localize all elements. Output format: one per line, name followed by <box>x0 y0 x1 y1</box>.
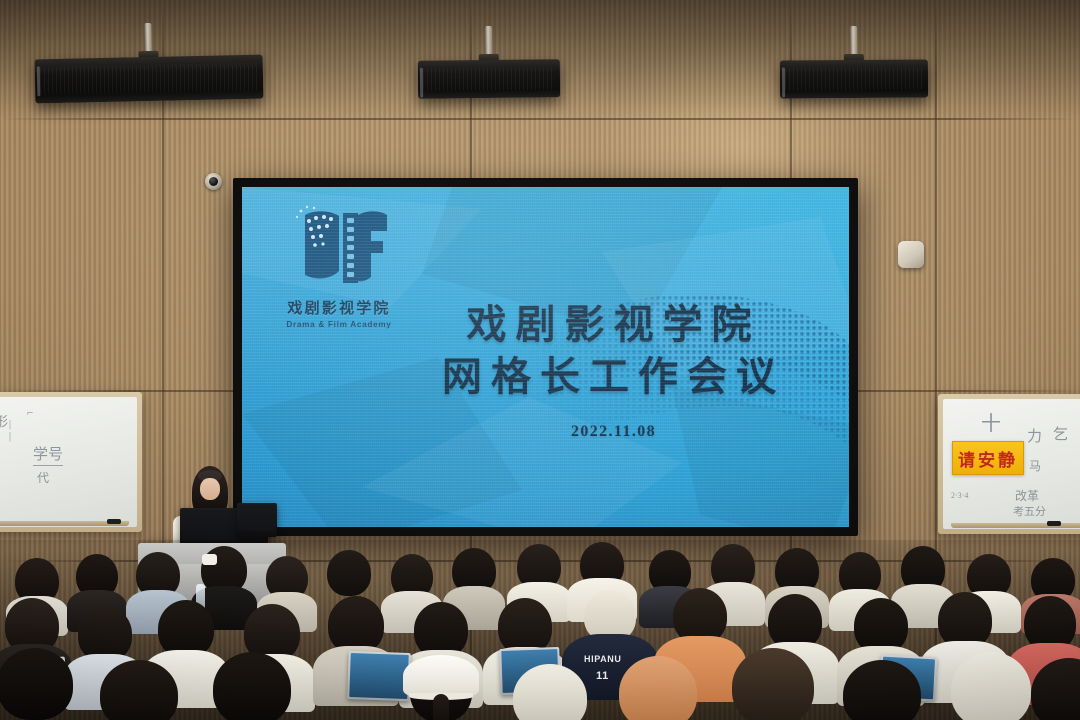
audience-member-front <box>206 652 298 720</box>
presenter-face <box>200 478 220 500</box>
audience-member-front <box>506 664 594 720</box>
speaker-grill <box>785 68 923 91</box>
head <box>213 652 291 720</box>
right-whiteboard-face: 十 力 乞 马 改革 考五分 2·3·4 请安静 <box>943 399 1080 529</box>
slide-title-line-1: 戏剧影视学院 <box>392 299 835 351</box>
head <box>100 660 178 720</box>
ceiling-speaker-right <box>780 59 928 98</box>
head <box>619 656 697 720</box>
whiteboard-note: 乞 <box>1053 423 1068 444</box>
whiteboard-note: 马 <box>1029 457 1041 474</box>
speaker-edge-highlight <box>37 66 41 96</box>
slide-title-line-2: 网格长工作会议 <box>392 351 835 403</box>
ponytail <box>433 694 449 720</box>
audience-member-front <box>944 652 1038 720</box>
drama-film-academy-logo-icon <box>283 199 395 295</box>
whiteboard-note: 代 <box>37 469 49 486</box>
head <box>732 648 814 720</box>
lecture-hall-photo: 戏剧影视学院 Drama & Film Academy 戏剧影视学院 网格长工作… <box>0 0 1080 720</box>
right-whiteboard: 十 力 乞 马 改革 考五分 2·3·4 请安静 <box>938 394 1080 534</box>
whiteboard-note: ⌐ <box>27 407 33 419</box>
speaker-grill <box>40 63 259 96</box>
audience-area: HIPANU 11 <box>0 540 1080 720</box>
speaker-edge-highlight <box>420 68 423 98</box>
whiteboard-note: 2·3·4 <box>951 491 968 500</box>
white-baseball-cap <box>403 655 479 697</box>
audience-member-front <box>724 648 822 720</box>
hair-clip <box>202 554 217 565</box>
whiteboard-note: 学号 <box>33 443 63 466</box>
slide-surface: 戏剧影视学院 Drama & Film Academy 戏剧影视学院 网格长工作… <box>242 187 849 527</box>
audience-member-front <box>92 660 186 720</box>
ceiling-speaker-center <box>418 59 560 98</box>
dome-camera-icon <box>205 173 222 190</box>
head <box>843 660 921 720</box>
jersey-number: 11 <box>596 670 609 682</box>
left-whiteboard: 形 ⌐ 学号 代 | | <box>0 392 142 532</box>
please-be-quiet-sign: 请安静 <box>952 441 1024 475</box>
slide-title-block: 戏剧影视学院 网格长工作会议 2022.11.08 <box>392 299 835 441</box>
speaker-grill <box>423 67 555 90</box>
speaker-edge-highlight <box>782 67 785 97</box>
audience-member-white-cap <box>396 658 486 720</box>
led-presentation-screen: 戏剧影视学院 Drama & Film Academy 戏剧影视学院 网格长工作… <box>233 178 858 536</box>
audience-member-front <box>836 660 928 720</box>
whiteboard-marker <box>1047 521 1061 526</box>
left-whiteboard-face: 形 ⌐ 学号 代 | | <box>0 397 137 527</box>
whiteboard-note: | <box>9 419 11 430</box>
slide-date: 2022.11.08 <box>392 423 835 441</box>
whiteboard-note: 考五分 <box>1013 503 1046 519</box>
monitor-display <box>239 505 275 531</box>
head <box>0 648 73 720</box>
whiteboard-note: 改革 <box>1015 487 1039 504</box>
head <box>951 652 1031 720</box>
head <box>513 664 587 720</box>
whiteboard-note: 力 <box>1027 425 1042 446</box>
head <box>1031 658 1080 720</box>
audience-member-front <box>0 648 80 720</box>
whiteboard-marker <box>107 519 121 524</box>
secondary-monitor <box>237 503 277 537</box>
wall-mounted-sensor <box>898 241 924 268</box>
audience-member-front <box>1026 658 1080 720</box>
ceiling-speaker-left <box>35 55 264 104</box>
whiteboard-note: 十 <box>981 407 1001 436</box>
whiteboard-note: 形 <box>0 411 8 430</box>
audience-member-front <box>612 656 704 720</box>
whiteboard-note: | <box>9 431 11 442</box>
